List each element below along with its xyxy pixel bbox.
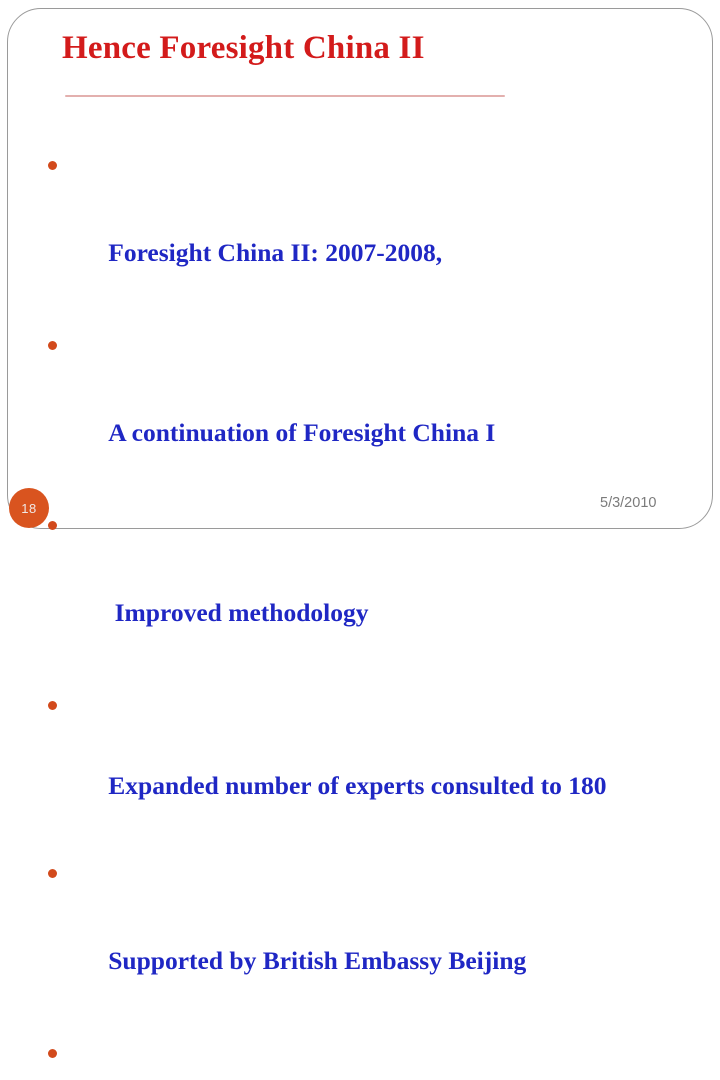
bullet-dot-icon [48,701,57,710]
list-item: Supported by British Embassy Beijing [44,851,674,1027]
list-item-label: Supported by British Embassy Beijing [108,946,526,975]
list-item: Foresight China II: 2007-2008, [44,143,674,319]
page-number-label: 18 [21,502,36,515]
list-item-label: A continuation of Foresight China I [108,418,495,447]
page-number-badge: 18 [9,488,49,528]
list-item-label: Foresight China II: 2007-2008, [108,238,442,267]
slide-canvas: Hence Foresight China II Foresight China… [0,0,720,540]
list-item-label: Improved methodology [108,598,368,627]
list-item: A continuation of Foresight China I [44,323,674,499]
list-item: Improved methodology [44,503,674,679]
bullet-dot-icon [48,1049,57,1058]
slide-date: 5/3/2010 [600,495,656,511]
list-item: Expanded number of experts consulted to … [44,683,674,847]
title-block: Hence Foresight China II [62,28,662,68]
title-underline-rule [65,95,505,97]
bullet-dot-icon [48,869,57,878]
list-item: Enacted by PUMC & China CDC [44,1031,674,1080]
bullet-list: Foresight China II: 2007-2008, A continu… [44,143,674,1080]
list-item-label: Expanded number of experts consulted to … [108,771,606,800]
page-title: Hence Foresight China II [62,28,662,68]
bullet-dot-icon [48,521,57,530]
bullet-dot-icon [48,161,57,170]
bullet-dot-icon [48,341,57,350]
